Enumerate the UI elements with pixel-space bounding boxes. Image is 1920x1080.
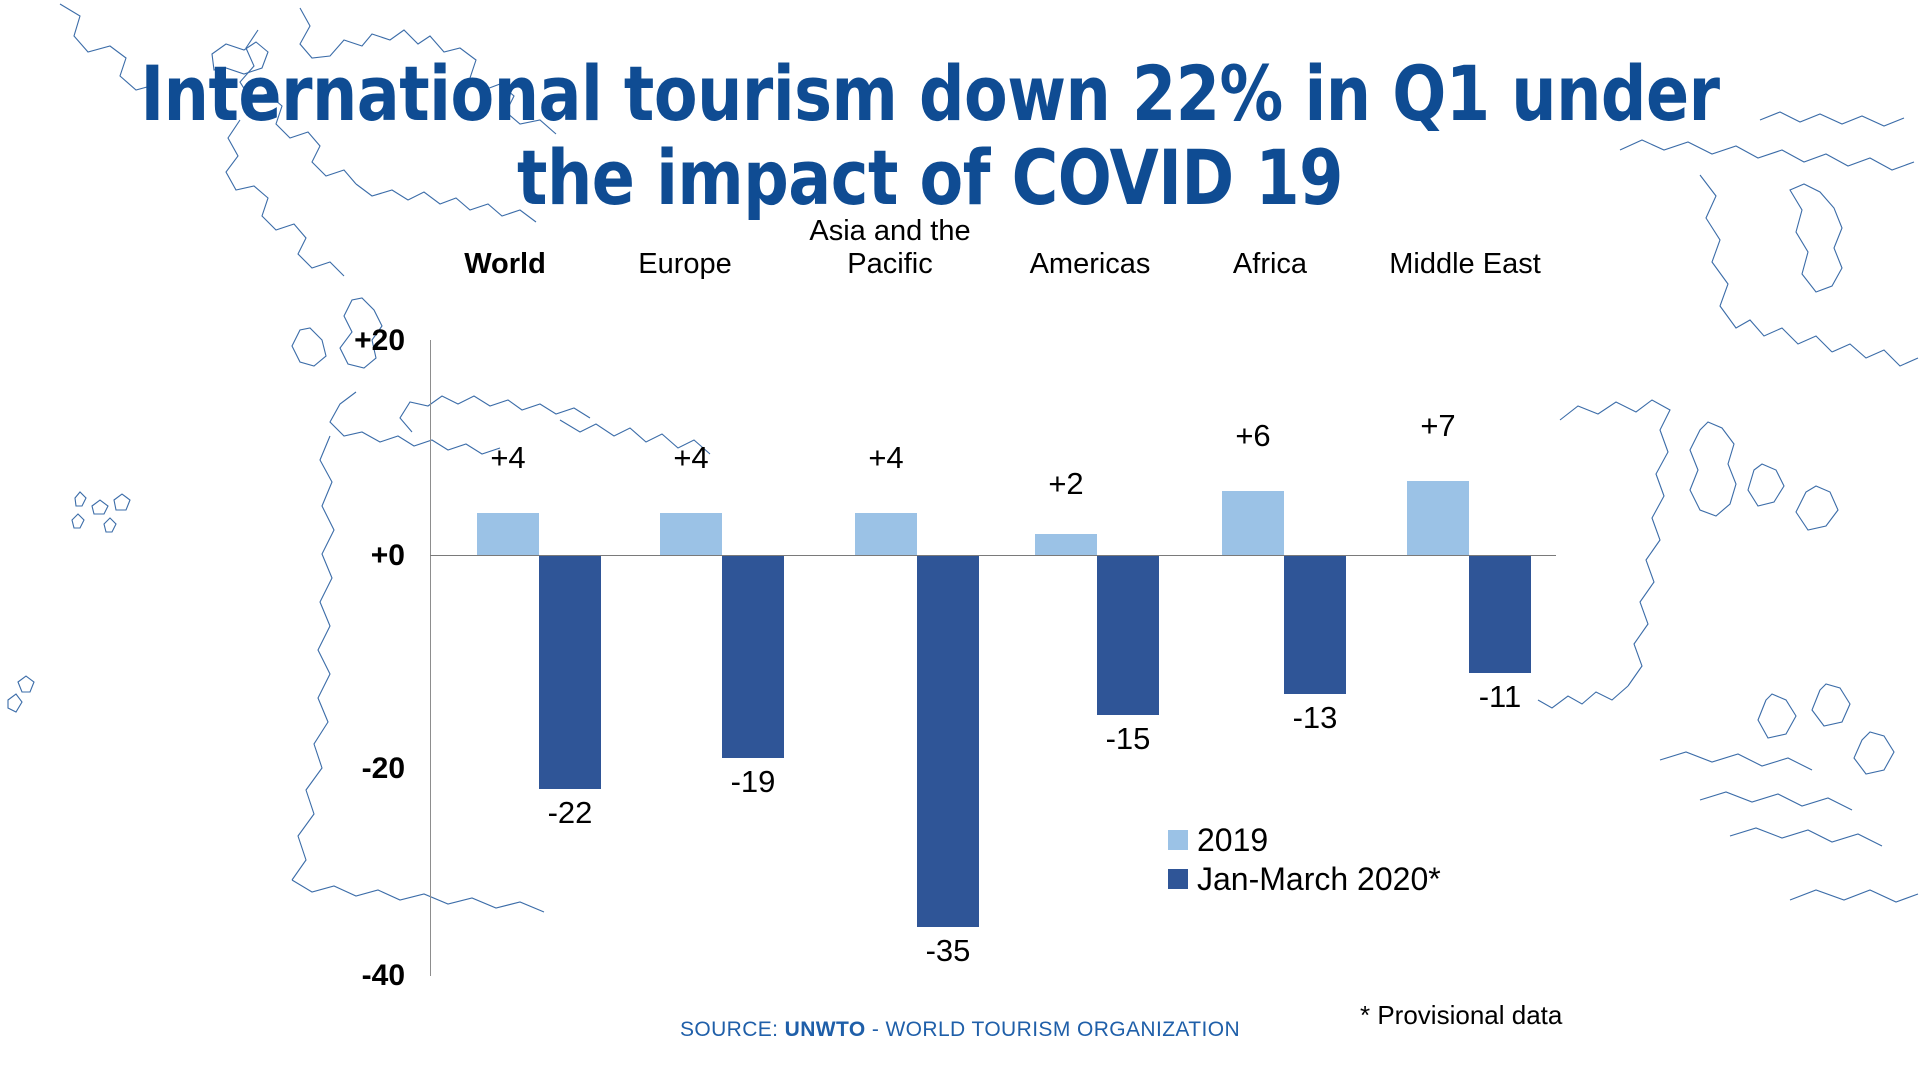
bar-europe-2020[interactable] bbox=[722, 556, 784, 758]
legend-label-2020: Jan-March 2020* bbox=[1197, 863, 1441, 895]
legend-swatch-2020-icon bbox=[1168, 869, 1188, 889]
category-label-europe: Europe bbox=[600, 248, 770, 281]
value-label-world-2019: +4 bbox=[448, 440, 568, 476]
category-label-asia-and-the-pacific: Asia and the Pacific bbox=[805, 215, 975, 281]
value-label-americas-2019: +2 bbox=[1006, 466, 1126, 502]
legend-label-2019: 2019 bbox=[1197, 824, 1268, 856]
y-tick-label-plus20: +20 bbox=[354, 324, 405, 358]
source-attribution: SOURCE: UNWTO - WORLD TOURISM ORGANIZATI… bbox=[0, 1018, 1920, 1042]
bar-africa-2019[interactable] bbox=[1222, 491, 1284, 555]
value-label-americas-2020: -15 bbox=[1068, 721, 1188, 757]
bar-world-2019[interactable] bbox=[477, 513, 539, 555]
source-suffix: - WORLD TOURISM ORGANIZATION bbox=[866, 1018, 1240, 1041]
y-tick-label-minus20: -20 bbox=[362, 752, 405, 786]
value-label-europe-2020: -19 bbox=[693, 764, 813, 800]
category-label-world: World bbox=[420, 248, 590, 281]
bar-africa-2020[interactable] bbox=[1284, 556, 1346, 694]
value-label-europe-2019: +4 bbox=[631, 440, 751, 476]
source-prefix: SOURCE: bbox=[680, 1018, 785, 1041]
value-label-africa-2019: +6 bbox=[1193, 418, 1313, 454]
category-label-africa: Africa bbox=[1190, 248, 1350, 281]
legend-item-2020[interactable]: Jan-March 2020* bbox=[1168, 859, 1441, 898]
value-label-world-2020: -22 bbox=[510, 795, 630, 831]
bar-middle-east-2019[interactable] bbox=[1407, 481, 1469, 555]
value-label-africa-2020: -13 bbox=[1255, 700, 1375, 736]
legend-item-2019[interactable]: 2019 bbox=[1168, 820, 1441, 859]
value-label-asia-pacific-2019: +4 bbox=[826, 440, 946, 476]
bar-americas-2020[interactable] bbox=[1097, 556, 1159, 715]
bar-europe-2019[interactable] bbox=[660, 513, 722, 555]
y-axis-line bbox=[430, 340, 431, 976]
y-tick-label-minus40: -40 bbox=[362, 959, 405, 993]
page-title-line-2: the impact of COVID 19 bbox=[121, 136, 1739, 220]
legend-swatch-2019-icon bbox=[1168, 830, 1188, 850]
page-title-line-1: International tourism down 22% in Q1 und… bbox=[121, 52, 1739, 136]
bar-americas-2019[interactable] bbox=[1035, 534, 1097, 555]
page-title: International tourism down 22% in Q1 und… bbox=[121, 52, 1739, 220]
value-label-middle-east-2020: -11 bbox=[1440, 679, 1560, 715]
slide-canvas: International tourism down 22% in Q1 und… bbox=[0, 0, 1920, 1080]
chart-legend: 2019 Jan-March 2020* bbox=[1168, 820, 1441, 898]
value-label-middle-east-2019: +7 bbox=[1378, 408, 1498, 444]
category-label-americas: Americas bbox=[1000, 248, 1180, 281]
bar-asia-pacific-2019[interactable] bbox=[855, 513, 917, 555]
bar-asia-pacific-2020[interactable] bbox=[917, 556, 979, 927]
value-label-asia-pacific-2020: -35 bbox=[888, 933, 1008, 969]
y-tick-label-zero: +0 bbox=[371, 539, 405, 573]
category-label-middle-east: Middle East bbox=[1360, 248, 1570, 281]
bar-middle-east-2020[interactable] bbox=[1469, 556, 1531, 673]
bar-world-2020[interactable] bbox=[539, 556, 601, 789]
source-organization-acronym: UNWTO bbox=[785, 1018, 866, 1041]
